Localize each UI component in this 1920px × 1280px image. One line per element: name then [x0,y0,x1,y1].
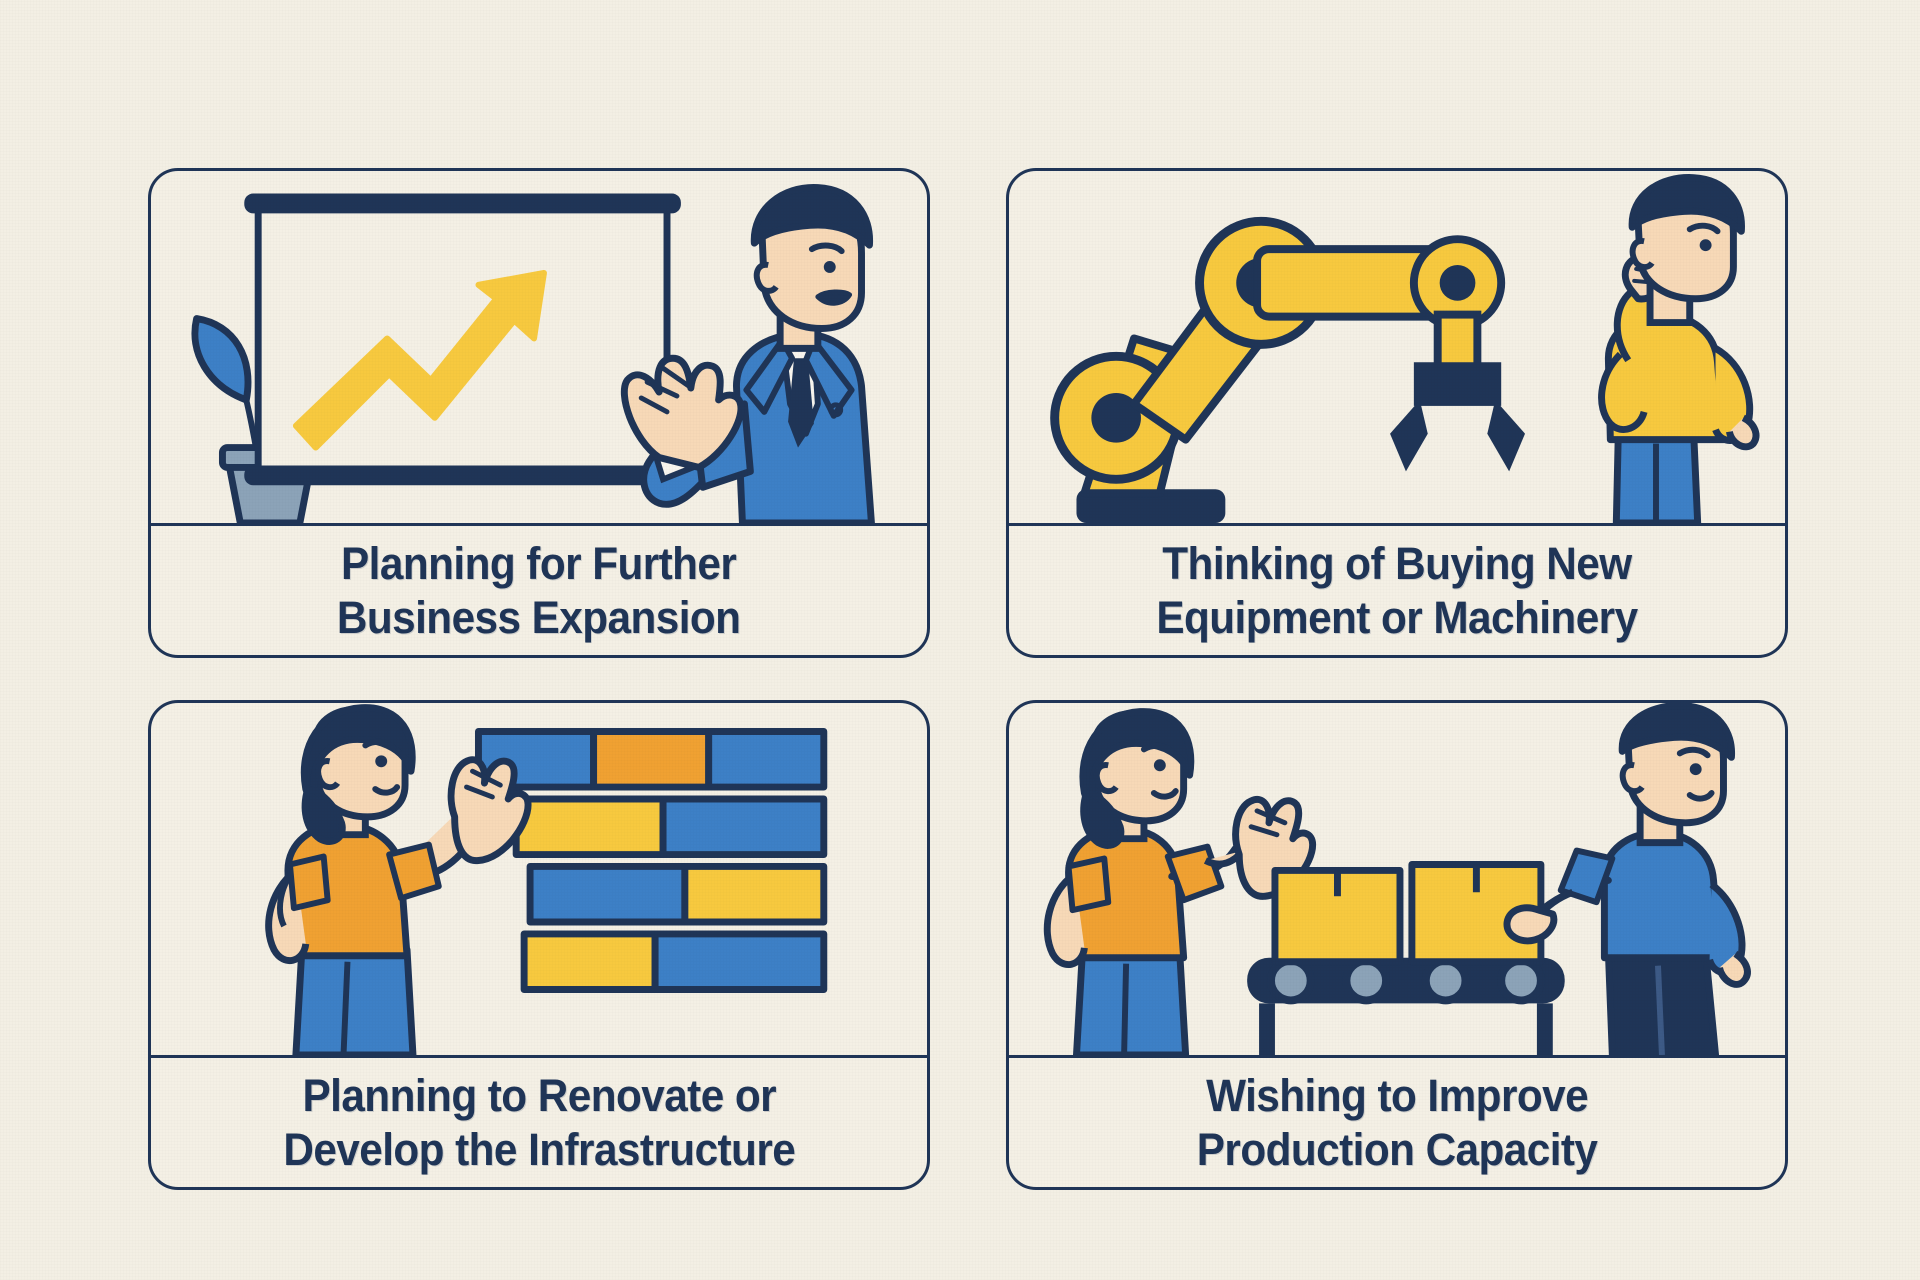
card-caption: Thinking of Buying New Equipment or Mach… [1009,526,1785,655]
card-business-expansion[interactable]: Planning for Further Business Expansion [148,168,930,658]
card-grid: Planning for Further Business Expansion [148,168,1788,1190]
card-caption-text: Planning for Further Business Expansion [337,537,741,643]
card-production-capacity[interactable]: Wishing to Improve Production Capacity [1006,700,1788,1190]
card-caption: Planning for Further Business Expansion [151,526,927,655]
illustration-woman-with-brick-wall [151,703,927,1058]
card-caption: Wishing to Improve Production Capacity [1009,1058,1785,1187]
illustration-robot-arm-and-thinking-man [1009,171,1785,526]
infographic-canvas: Planning for Further Business Expansion [0,0,1920,1280]
card-caption: Planning to Renovate or Develop the Infr… [151,1058,927,1187]
illustration-presenter-with-growth-chart [151,171,927,526]
card-caption-text: Wishing to Improve Production Capacity [1197,1069,1598,1175]
card-caption-text: Thinking of Buying New Equipment or Mach… [1156,537,1637,643]
card-caption-text: Planning to Renovate or Develop the Infr… [283,1069,795,1175]
illustration-conveyor-belt-with-workers [1009,703,1785,1058]
card-new-equipment[interactable]: Thinking of Buying New Equipment or Mach… [1006,168,1788,658]
card-renovate-infrastructure[interactable]: Planning to Renovate or Develop the Infr… [148,700,930,1190]
